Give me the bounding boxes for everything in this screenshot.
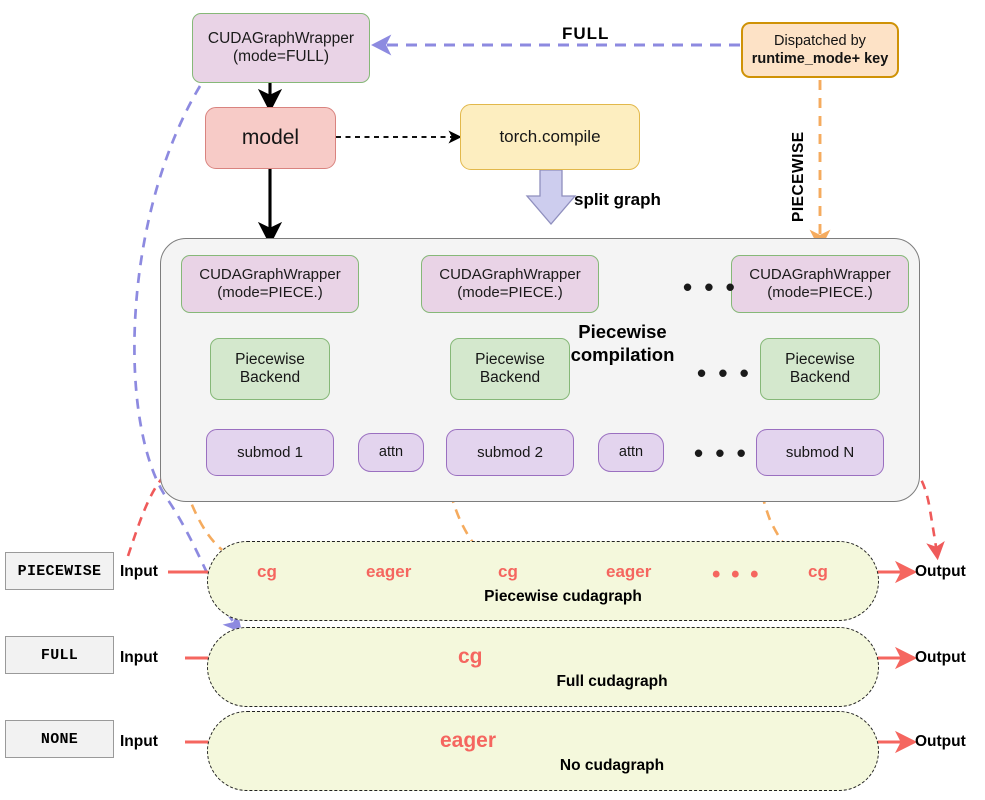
wrapper-1-line2: (mode=PIECE.) [199,284,340,302]
stage-cg-3: cg [808,562,828,582]
submod-n-box[interactable]: submod N [756,429,884,476]
wrapper-1-line1: CUDAGraphWrapper [199,266,340,284]
submod-1-box[interactable]: submod 1 [206,429,334,476]
cudagraph-wrapper-piece-1[interactable]: CUDAGraphWrapper (mode=PIECE.) [181,255,359,313]
backend-n-line1: Piecewise [785,351,855,369]
band-piecewise [207,541,879,621]
wrapper-2-line1: CUDAGraphWrapper [439,266,580,284]
cudagraph-wrapper-piece-n[interactable]: CUDAGraphWrapper (mode=PIECE.) [731,255,909,313]
stage-ellipsis-row1: • • • [712,563,761,587]
backend-1-line1: Piecewise [235,351,305,369]
stage-eager-2: eager [606,562,651,582]
piecewise-edge-label: PIECEWISE [790,131,808,222]
output-label-piecewise: Output [915,563,966,581]
dispatch-line2: runtime_mode+ key [752,50,889,68]
attn-1-box[interactable]: attn [358,433,424,472]
wrapper-n-line1: CUDAGraphWrapper [749,266,890,284]
torch-compile-box[interactable]: torch.compile [460,104,640,170]
backend-2-line1: Piecewise [475,351,545,369]
piecewise-backend-1[interactable]: Piecewise Backend [210,338,330,400]
wrapper-full-line2: (mode=FULL) [208,48,354,66]
panel-ellipsis-wrappers: • • • [683,274,737,300]
attn-2-box[interactable]: attn [598,433,664,472]
model-box[interactable]: model [205,107,336,169]
stage-cg-full: cg [458,645,483,669]
panel-ellipsis-backends: • • • [697,360,751,386]
stage-eager-1: eager [366,562,411,582]
submod-2-box[interactable]: submod 2 [446,429,574,476]
dispatch-line1: Dispatched by [774,32,866,50]
input-label-piecewise: Input [120,563,158,581]
band-full [207,627,879,707]
output-label-none: Output [915,733,966,751]
input-label-full: Input [120,649,158,667]
backend-2-line2: Backend [475,369,545,387]
band-label-piecewise: Piecewise cudagraph [463,588,663,606]
piecewise-backend-2[interactable]: Piecewise Backend [450,338,570,400]
input-label-none: Input [120,733,158,751]
output-label-full: Output [915,649,966,667]
wrapper-full-line1: CUDAGraphWrapper [208,30,354,48]
split-graph-label: split graph [574,190,661,210]
cudagraph-wrapper-full-box[interactable]: CUDAGraphWrapper (mode=FULL) [192,13,370,83]
dispatch-box[interactable]: Dispatched by runtime_mode+ key [741,22,899,78]
wrapper-2-line2: (mode=PIECE.) [439,284,580,302]
mode-badge-full[interactable]: FULL [5,636,114,674]
stage-cg-2: cg [498,562,518,582]
band-label-full: Full cudagraph [527,673,697,691]
backend-n-line2: Backend [785,369,855,387]
backend-1-line2: Backend [235,369,305,387]
cudagraph-wrapper-piece-2[interactable]: CUDAGraphWrapper (mode=PIECE.) [421,255,599,313]
piecewise-backend-n[interactable]: Piecewise Backend [760,338,880,400]
stage-eager-none: eager [440,729,496,753]
stage-cg-1: cg [257,562,277,582]
band-none [207,711,879,791]
diagram-canvas: CUDAGraphWrapper (mode=FULL) model torch… [0,0,985,800]
mode-badge-none[interactable]: NONE [5,720,114,758]
panel-ellipsis-submods: • • • [694,440,748,466]
mode-badge-piecewise[interactable]: PIECEWISE [5,552,114,590]
band-label-none: No cudagraph [527,757,697,775]
wrapper-n-line2: (mode=PIECE.) [749,284,890,302]
full-edge-label: FULL [562,24,609,44]
